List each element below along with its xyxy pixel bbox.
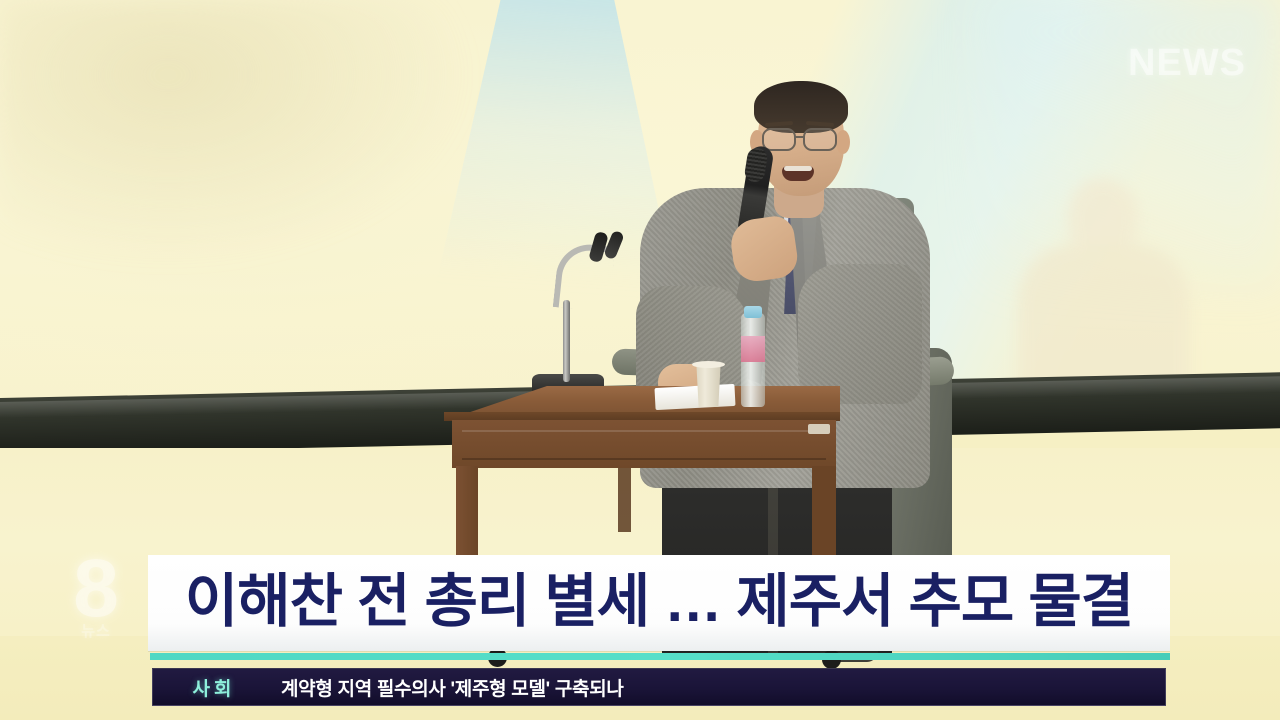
headline-banner: 이해찬 전 총리 별세 … 제주서 추모 물결 [148,555,1170,651]
table-apron [452,420,836,468]
headline-accent-line [150,653,1170,660]
paper-sheet [654,384,735,410]
paper-cup [694,363,723,407]
ticker-category-label: 사회 [153,674,275,701]
projected-person-silhouette [1010,178,1200,403]
table-apron-groove-top [462,430,826,432]
water-bottle-label [741,336,765,362]
paper-cup-rim [692,361,725,368]
news-ticker-bar: 사회 계약형 지역 필수의사 '제주형 모델' 구축되나 [152,668,1166,706]
water-bottle-cap [744,306,762,318]
headline-text: 이해찬 전 총리 별세 … 제주서 추모 물결 [185,573,1133,634]
table-drawer-pull [808,424,830,434]
microphone-stand-pole [563,300,570,382]
speaker-person [622,78,952,638]
channel-watermark: NEWS [1128,42,1246,85]
ticker-headline-text: 계약형 지역 필수의사 '제주형 모델' 구축되나 [275,674,1165,701]
broadcast-frame: NEWS 8 뉴스 이해찬 전 총리 별세 … 제주서 추모 물결 사회 계약형… [0,0,1280,720]
eyeglasses-lens-right [803,128,837,151]
table-apron-groove-bottom [462,458,826,460]
speaker-arm-right [798,264,922,404]
eyeglasses-bridge [795,136,805,138]
speaker-teeth [784,166,812,171]
program-logo-label: 뉴스 [60,620,132,641]
table-leg-back-left [618,460,631,532]
speaker-ear-right [836,130,850,154]
